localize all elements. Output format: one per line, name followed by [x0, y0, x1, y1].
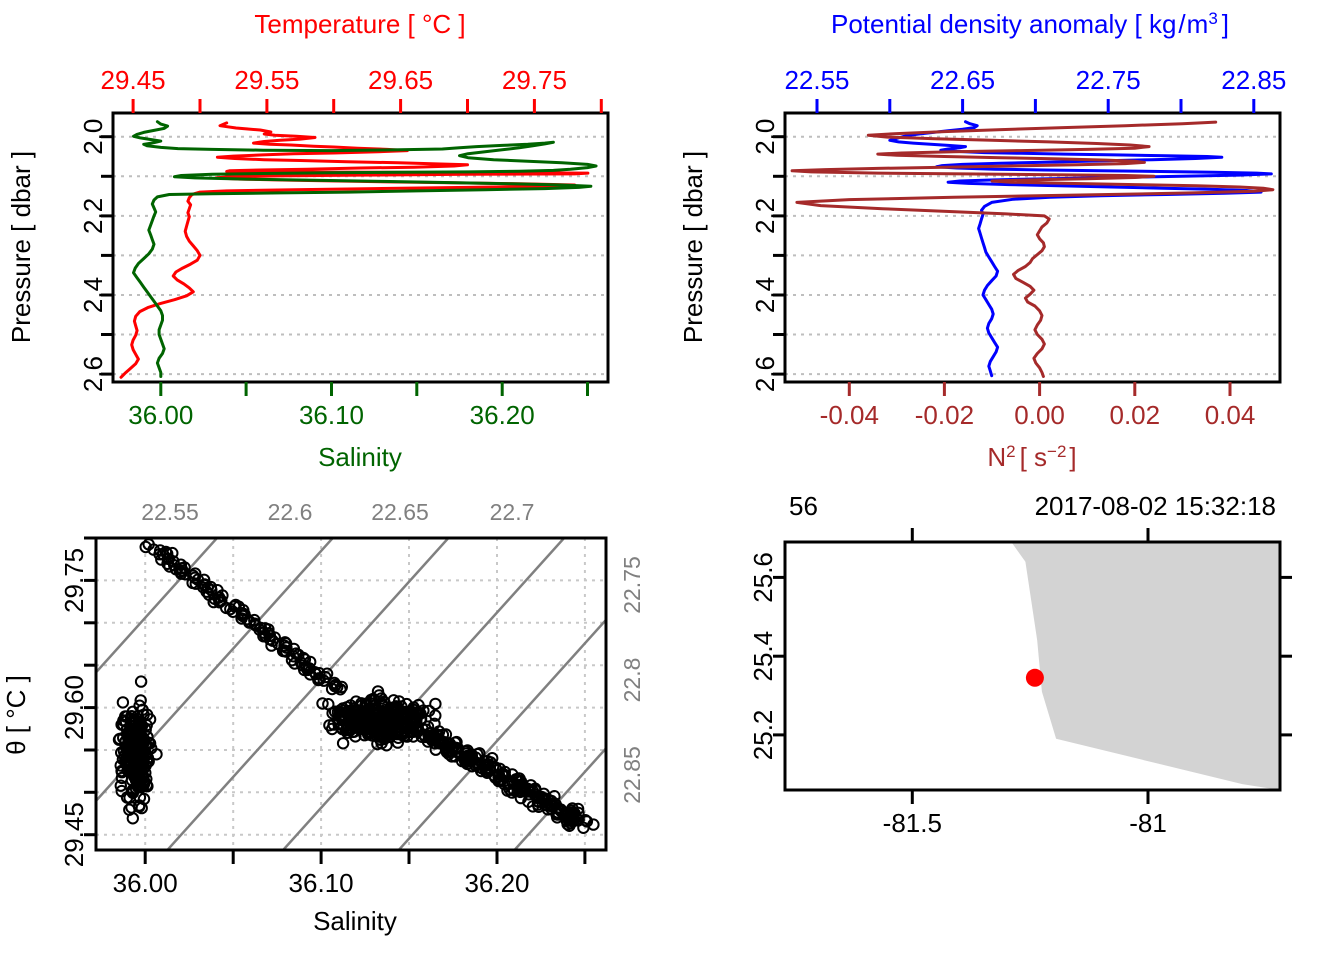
- pressure-tick-label: 2.0: [78, 119, 108, 155]
- n2-axis-exponent: 2: [1006, 442, 1015, 461]
- ts-data-points: [114, 539, 599, 833]
- ts-point: [136, 676, 146, 686]
- panel-ts-diagram: 22.5522.622.6522.722.7522.822.8536.0036.…: [0, 480, 672, 960]
- pressure-tick-label: 2.0: [750, 119, 780, 155]
- top-axis-tick-label: 22.55: [784, 65, 849, 95]
- theta-axis-title: θ [ °C ]: [1, 675, 31, 755]
- profile-curves: [792, 122, 1273, 377]
- n2-axis-base: N: [987, 442, 1006, 472]
- map-land-layer: [1011, 542, 1280, 790]
- n2-axis-unit: [ s: [1020, 442, 1047, 472]
- pressure-axis-title: Pressure [ dbar ]: [6, 151, 36, 343]
- ts-point: [118, 697, 128, 707]
- n2-axis-title: N2[ s−2]: [987, 442, 1076, 473]
- salinity-tick-label: 36.00: [113, 868, 178, 898]
- temperature-salinity-profile-plot: 2.02.22.42.629.4529.5529.6529.7536.0036.…: [0, 0, 672, 480]
- density-axis-title-text: Potential density anomaly [ kg: [831, 9, 1176, 39]
- salinity-axis-title: Salinity: [318, 442, 402, 472]
- station-number-label: 56: [789, 491, 818, 521]
- profile-curve: [134, 122, 597, 377]
- bottom-axis-tick-label: 0.02: [1109, 400, 1160, 430]
- bottom-axis-tick-label: 36.00: [128, 400, 193, 430]
- pressure-tick-label: 2.2: [750, 198, 780, 234]
- isopycnal-right-label: 22.75: [619, 556, 645, 614]
- longitude-tick-label: -81: [1129, 808, 1167, 838]
- n2-axis-bracket: ]: [1069, 442, 1076, 472]
- ts-point: [430, 699, 440, 709]
- top-axis-tick-label: 22.65: [930, 65, 995, 95]
- pressure-tick-label: 2.4: [750, 277, 780, 313]
- density-axis-title: Potential density anomaly [ kg/m3]: [831, 9, 1229, 40]
- bottom-axis-tick-label: 0.04: [1205, 400, 1256, 430]
- isopycnal-top-label: 22.55: [141, 499, 199, 525]
- salinity-tick-label: 36.20: [464, 868, 529, 898]
- longitude-tick-label: -81.5: [883, 808, 942, 838]
- top-axis-tick-label: 29.75: [502, 65, 567, 95]
- isopycnal-line: [8, 480, 672, 770]
- panel-density-n2-profile: 2.02.22.42.622.5522.6522.7522.85-0.04-0.…: [672, 0, 1344, 480]
- theta-tick-label: 29.45: [59, 802, 89, 867]
- axis-ticks-and-labels: 2.02.22.42.629.4529.5529.6529.7536.0036.…: [78, 65, 601, 430]
- profile-curves: [121, 122, 596, 378]
- axis-ticks-and-labels: 2.02.22.42.622.5522.6522.7522.85-0.04-0.…: [750, 65, 1286, 430]
- pressure-axis-title: Pressure [ dbar ]: [678, 151, 708, 343]
- isopycnal-right-label: 22.85: [619, 746, 645, 804]
- ts-diagram-plot: 22.5522.622.6522.722.7522.822.8536.0036.…: [0, 480, 672, 960]
- land-polygon: [1011, 542, 1280, 790]
- station-timestamp-label: 2017-08-02 15:32:18: [1035, 491, 1276, 521]
- n2-axis-unit-exponent: −2: [1047, 442, 1066, 461]
- latitude-tick-label: 25.6: [748, 552, 778, 603]
- ts-point: [338, 738, 348, 748]
- theta-tick-label: 29.60: [59, 675, 89, 740]
- pressure-tick-label: 2.4: [78, 277, 108, 313]
- panel-temperature-salinity-profile: 2.02.22.42.629.4529.5529.6529.7536.0036.…: [0, 0, 672, 480]
- isopycnal-top-label: 22.65: [371, 499, 429, 525]
- latitude-tick-label: 25.2: [748, 710, 778, 761]
- top-axis-tick-label: 29.55: [234, 65, 299, 95]
- profile-curve: [792, 122, 1273, 376]
- station-map-plot: -81.5-8125.225.425.6 56 2017-08-02 15:32…: [672, 480, 1344, 960]
- pressure-tick-label: 2.6: [78, 356, 108, 392]
- isopycnal-right-label: 22.8: [619, 658, 645, 703]
- bottom-axis-tick-label: 36.10: [299, 400, 364, 430]
- salinity-tick-label: 36.10: [289, 868, 354, 898]
- density-n2-profile-plot: 2.02.22.42.622.5522.6522.7522.85-0.04-0.…: [672, 0, 1344, 480]
- bottom-axis-tick-label: 0.00: [1014, 400, 1065, 430]
- figure-root: 2.02.22.42.629.4529.5529.6529.7536.0036.…: [0, 0, 1344, 960]
- top-axis-tick-label: 22.75: [1076, 65, 1141, 95]
- top-axis-tick-label: 22.85: [1221, 65, 1286, 95]
- bottom-axis-tick-label: 36.20: [470, 400, 535, 430]
- pressure-tick-label: 2.6: [750, 356, 780, 392]
- latitude-tick-label: 25.4: [748, 631, 778, 682]
- isopycnal-top-label: 22.6: [268, 499, 313, 525]
- isopycnal-top-label: 22.7: [490, 499, 535, 525]
- density-axis-exponent: 3: [1208, 9, 1217, 28]
- temperature-axis-title: Temperature [ °C ]: [254, 9, 465, 39]
- density-axis-unit: m: [1187, 9, 1209, 39]
- station-marker[interactable]: [1026, 669, 1044, 687]
- top-axis-tick-label: 29.65: [368, 65, 433, 95]
- panel-station-map: -81.5-8125.225.425.6 56 2017-08-02 15:32…: [672, 480, 1344, 960]
- density-axis-bracket: ]: [1222, 9, 1229, 39]
- bottom-axis-tick-label: -0.04: [820, 400, 879, 430]
- top-axis-tick-label: 29.45: [101, 65, 166, 95]
- theta-tick-label: 29.75: [59, 548, 89, 613]
- salinity-axis-title: Salinity: [313, 906, 397, 936]
- bottom-axis-tick-label: -0.02: [915, 400, 974, 430]
- pressure-tick-label: 2.2: [78, 198, 108, 234]
